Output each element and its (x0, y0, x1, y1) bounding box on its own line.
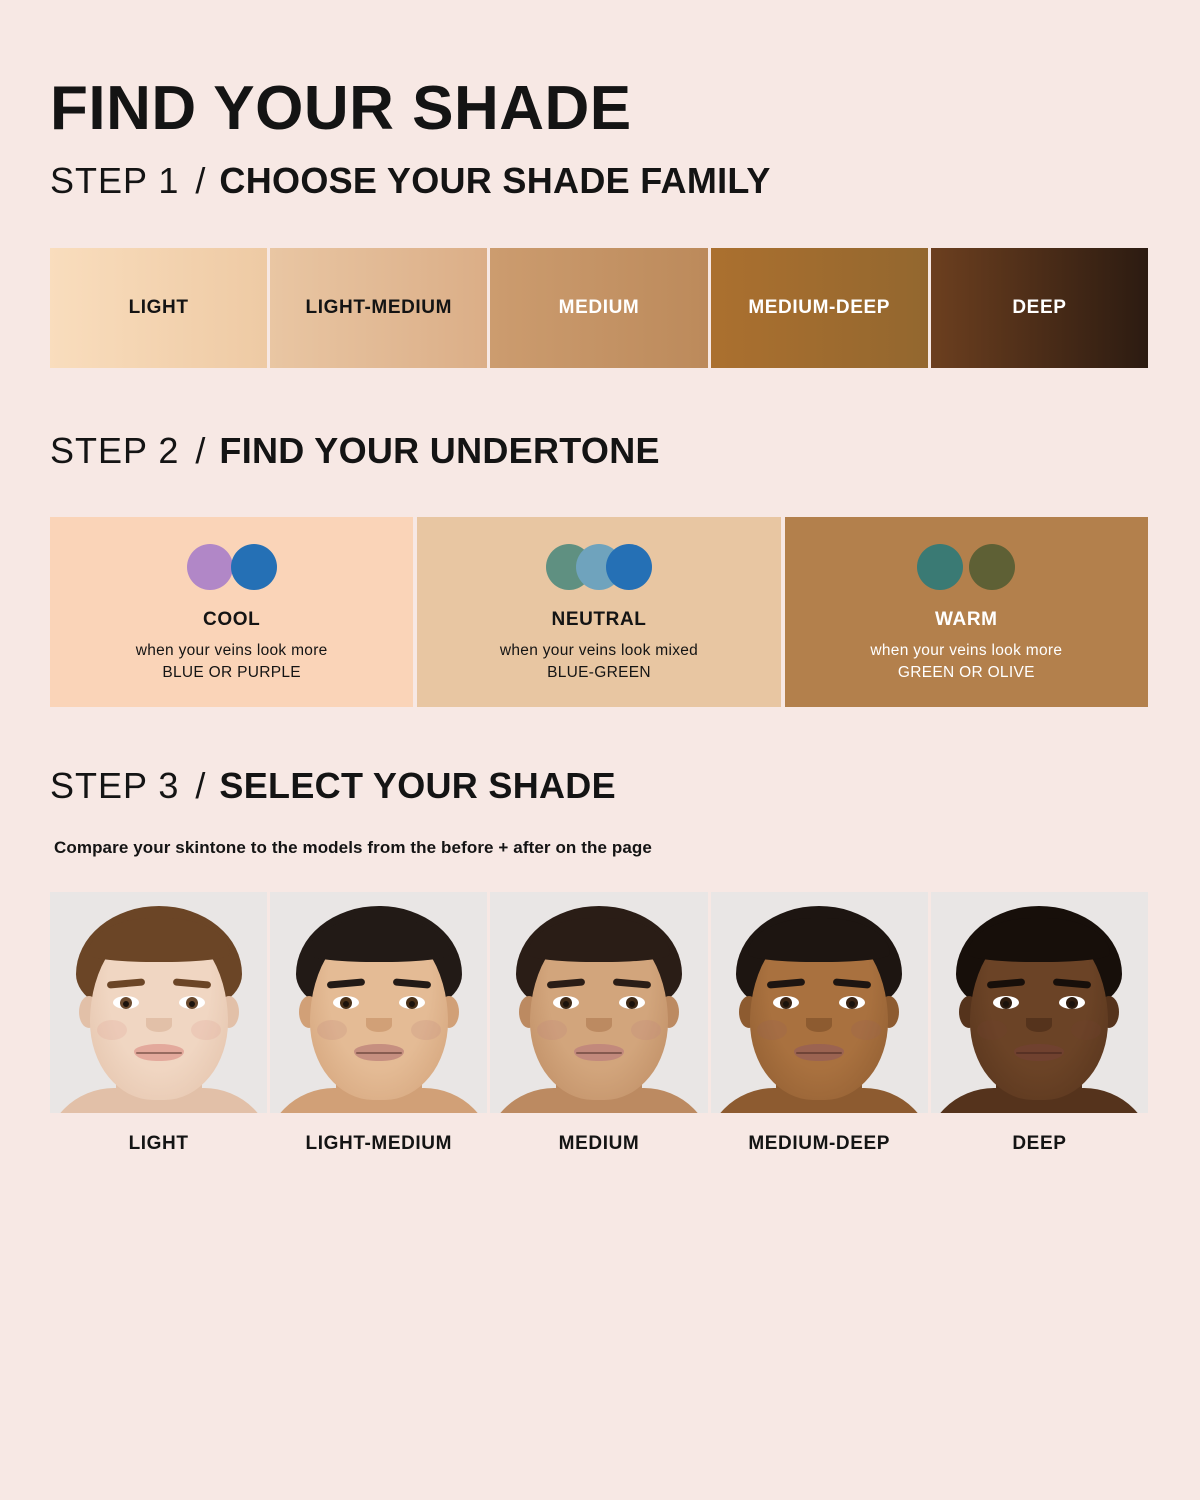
model-eye-right (179, 996, 205, 1009)
model-pupil-right (1069, 1001, 1075, 1007)
step-3-header: STEP 3 / SELECT YOUR SHADE (50, 765, 616, 807)
undertone-description-line-1: when your veins look more (136, 640, 328, 662)
model-iris-right (846, 997, 858, 1009)
undertone-panel[interactable]: NEUTRALwhen your veins look mixedBLUE-GR… (417, 517, 780, 707)
model-iris-right (186, 997, 198, 1009)
model-iris-left (340, 997, 352, 1009)
model-pupil-right (629, 1001, 635, 1007)
shade-swatch[interactable]: MEDIUM (490, 248, 707, 368)
undertone-description-line-1: when your veins look mixed (500, 640, 698, 662)
model-nose (586, 1018, 612, 1032)
model-photo (931, 892, 1148, 1113)
model-cell[interactable]: LIGHT (50, 892, 267, 1155)
model-photo (50, 892, 267, 1113)
undertone-description: when your veins look moreBLUE OR PURPLE (136, 640, 328, 685)
shade-swatch-label: LIGHT (129, 297, 189, 319)
model-lip-line (576, 1052, 622, 1054)
model-lip-line (356, 1052, 402, 1054)
step-2-number: STEP 2 (50, 430, 179, 472)
step-3-number: STEP 3 (50, 765, 179, 807)
model-eye-right (399, 996, 425, 1009)
model-pupil-left (1003, 1001, 1009, 1007)
model-label: DEEP (1012, 1133, 1066, 1155)
undertone-panel[interactable]: WARMwhen your veins look moreGREEN OR OL… (785, 517, 1148, 707)
model-cheek-right (191, 1020, 221, 1040)
shade-swatch[interactable]: LIGHT (50, 248, 267, 368)
model-label: LIGHT-MEDIUM (306, 1133, 453, 1155)
model-nose (366, 1018, 392, 1032)
model-iris-left (780, 997, 792, 1009)
undertone-dots (917, 541, 1015, 593)
step-3-subtitle: Compare your skintone to the models from… (54, 838, 652, 858)
undertone-description-line-2: BLUE-GREEN (500, 662, 698, 684)
undertone-panel[interactable]: COOLwhen your veins look moreBLUE OR PUR… (50, 517, 413, 707)
step-2-separator: / (195, 430, 205, 472)
step-2-header: STEP 2 / FIND YOUR UNDERTONE (50, 430, 660, 472)
undertone-description-line-2: GREEN OR OLIVE (870, 662, 1062, 684)
undertone-dots (187, 541, 277, 593)
shade-swatch[interactable]: MEDIUM-DEEP (711, 248, 928, 368)
page-title: FIND YOUR SHADE (50, 76, 632, 141)
model-eye-left (553, 996, 579, 1009)
model-eye-right (619, 996, 645, 1009)
model-iris-left (560, 997, 572, 1009)
model-lip-line (1016, 1052, 1062, 1054)
step-1-header: STEP 1 / CHOOSE YOUR SHADE FAMILY (50, 160, 771, 202)
model-cell[interactable]: MEDIUM-DEEP (711, 892, 928, 1155)
model-iris-left (1000, 997, 1012, 1009)
undertone-panels: COOLwhen your veins look moreBLUE OR PUR… (50, 517, 1148, 707)
model-iris-right (1066, 997, 1078, 1009)
olive-dot (969, 544, 1015, 590)
model-photo-row: LIGHTLIGHT-MEDIUMMEDIUMMEDIUM-DEEPDEEP (50, 892, 1148, 1155)
step-2-title: FIND YOUR UNDERTONE (219, 430, 659, 472)
model-nose (146, 1018, 172, 1032)
model-photo (711, 892, 928, 1113)
model-eye-left (113, 996, 139, 1009)
model-cell[interactable]: MEDIUM (490, 892, 707, 1155)
undertone-description: when your veins look mixedBLUE-GREEN (500, 640, 698, 685)
shade-swatch-label: LIGHT-MEDIUM (306, 297, 453, 319)
model-cell[interactable]: DEEP (931, 892, 1148, 1155)
model-photo (270, 892, 487, 1113)
model-iris-right (626, 997, 638, 1009)
model-cheek-left (97, 1020, 127, 1040)
model-cheek-left (317, 1020, 347, 1040)
model-pupil-right (849, 1001, 855, 1007)
model-eye-left (333, 996, 359, 1009)
blue-dot (606, 544, 652, 590)
teal-dot (917, 544, 963, 590)
undertone-description-line-1: when your veins look more (870, 640, 1062, 662)
step-3-title: SELECT YOUR SHADE (219, 765, 616, 807)
step-1-number: STEP 1 (50, 160, 179, 202)
undertone-name: WARM (935, 609, 998, 631)
shade-family-bar: LIGHTLIGHT-MEDIUMMEDIUMMEDIUM-DEEPDEEP (50, 248, 1148, 368)
shade-swatch[interactable]: LIGHT-MEDIUM (270, 248, 487, 368)
undertone-dots (546, 541, 652, 593)
shade-swatch-label: MEDIUM-DEEP (748, 297, 890, 319)
model-iris-left (120, 997, 132, 1009)
undertone-description: when your veins look moreGREEN OR OLIVE (870, 640, 1062, 685)
shade-swatch[interactable]: DEEP (931, 248, 1148, 368)
model-label: LIGHT (129, 1133, 189, 1155)
model-cheek-right (631, 1020, 661, 1040)
model-lip-line (796, 1052, 842, 1054)
undertone-name: NEUTRAL (552, 609, 647, 631)
model-lip-line (136, 1052, 182, 1054)
model-cell[interactable]: LIGHT-MEDIUM (270, 892, 487, 1155)
model-label: MEDIUM-DEEP (748, 1133, 890, 1155)
model-pupil-right (189, 1001, 195, 1007)
model-photo (490, 892, 707, 1113)
model-iris-right (406, 997, 418, 1009)
model-nose (806, 1018, 832, 1032)
step-1-title: CHOOSE YOUR SHADE FAMILY (219, 160, 770, 202)
undertone-name: COOL (203, 609, 260, 631)
shade-swatch-label: DEEP (1012, 297, 1066, 319)
model-pupil-left (123, 1001, 129, 1007)
shade-swatch-label: MEDIUM (559, 297, 640, 319)
step-1-separator: / (195, 160, 205, 202)
model-cheek-left (757, 1020, 787, 1040)
model-label: MEDIUM (559, 1133, 640, 1155)
model-cheek-left (537, 1020, 567, 1040)
model-cheek-right (851, 1020, 881, 1040)
step-3-separator: / (195, 765, 205, 807)
blue-dot (231, 544, 277, 590)
model-pupil-left (563, 1001, 569, 1007)
model-pupil-left (783, 1001, 789, 1007)
model-pupil-right (409, 1001, 415, 1007)
model-cheek-right (411, 1020, 441, 1040)
model-pupil-left (343, 1001, 349, 1007)
undertone-description-line-2: BLUE OR PURPLE (136, 662, 328, 684)
purple-dot (187, 544, 233, 590)
